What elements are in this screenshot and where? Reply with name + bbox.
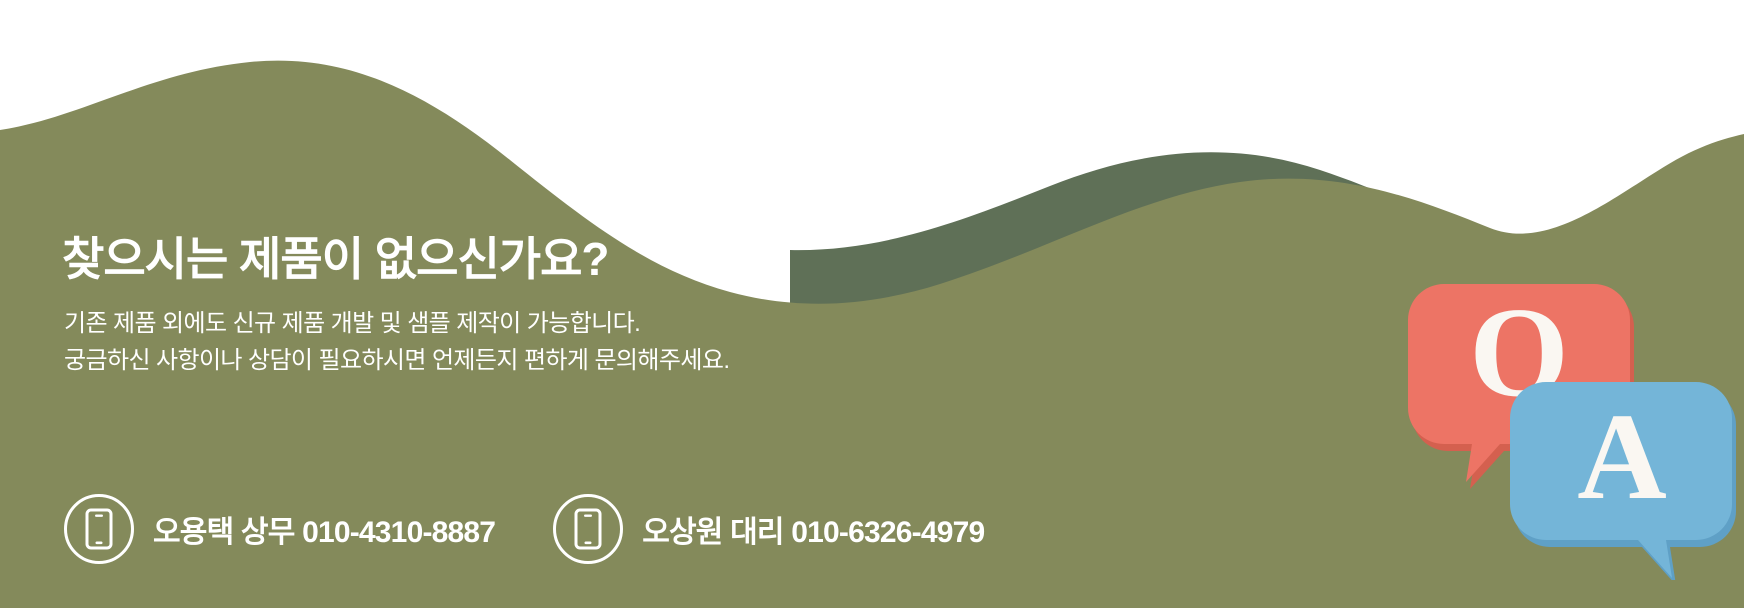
subtitle-line-2: 궁금하신 사항이나 상담이 필요하시면 언제든지 편하게 문의해주세요.: [64, 345, 729, 377]
contact-list: 오용택 상무 010-4310-8887 오상원 대리 010-6326-497…: [64, 494, 984, 564]
contact-item[interactable]: 오용택 상무 010-4310-8887: [64, 494, 495, 564]
qa-speech-bubbles-illustration: Q A: [1404, 250, 1744, 580]
contact-item[interactable]: 오상원 대리 010-6326-4979: [553, 494, 984, 564]
subtitle-line-1: 기존 제품 외에도 신규 제품 개발 및 샘플 제작이 가능합니다.: [64, 308, 640, 340]
mobile-phone-icon: [553, 494, 623, 564]
mobile-phone-icon: [64, 494, 134, 564]
answer-bubble-letter: A: [1577, 388, 1667, 525]
answer-bubble: A: [1510, 382, 1736, 580]
page-title: 찾으시는 제품이 없으신가요?: [62, 232, 609, 287]
contact-banner: 찾으시는 제품이 없으신가요? 기존 제품 외에도 신규 제품 개발 및 샘플 …: [0, 0, 1744, 608]
banner-content: 찾으시는 제품이 없으신가요? 기존 제품 외에도 신규 제품 개발 및 샘플 …: [0, 0, 1744, 608]
contact-label: 오상원 대리 010-6326-4979: [642, 507, 984, 551]
contact-label: 오용택 상무 010-4310-8887: [153, 507, 495, 551]
